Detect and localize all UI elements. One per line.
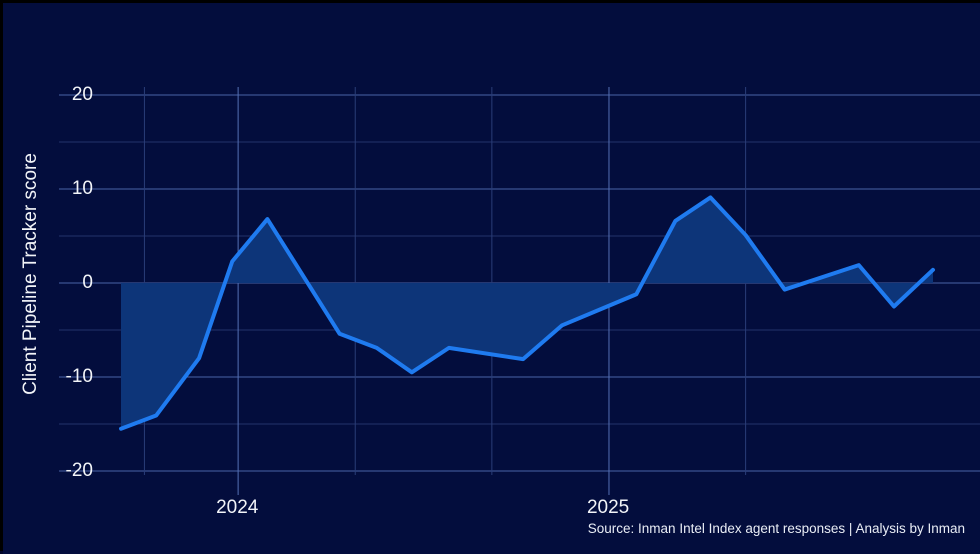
plot-area	[3, 3, 980, 554]
y-tick-label: -10	[31, 367, 93, 386]
chart-canvas	[3, 3, 980, 554]
x-tick-label: 2024	[216, 498, 258, 517]
y-tick-label: -20	[31, 461, 93, 480]
source-note: Source: Inman Intel Index agent response…	[588, 521, 965, 536]
y-tick-label: 10	[31, 179, 93, 198]
chart-figure: Agent outlook rosier after July buyer bo…	[0, 0, 980, 551]
y-tick-label: 0	[31, 273, 93, 292]
x-tick-label: 2025	[587, 498, 629, 517]
y-tick-label: 20	[31, 85, 93, 104]
